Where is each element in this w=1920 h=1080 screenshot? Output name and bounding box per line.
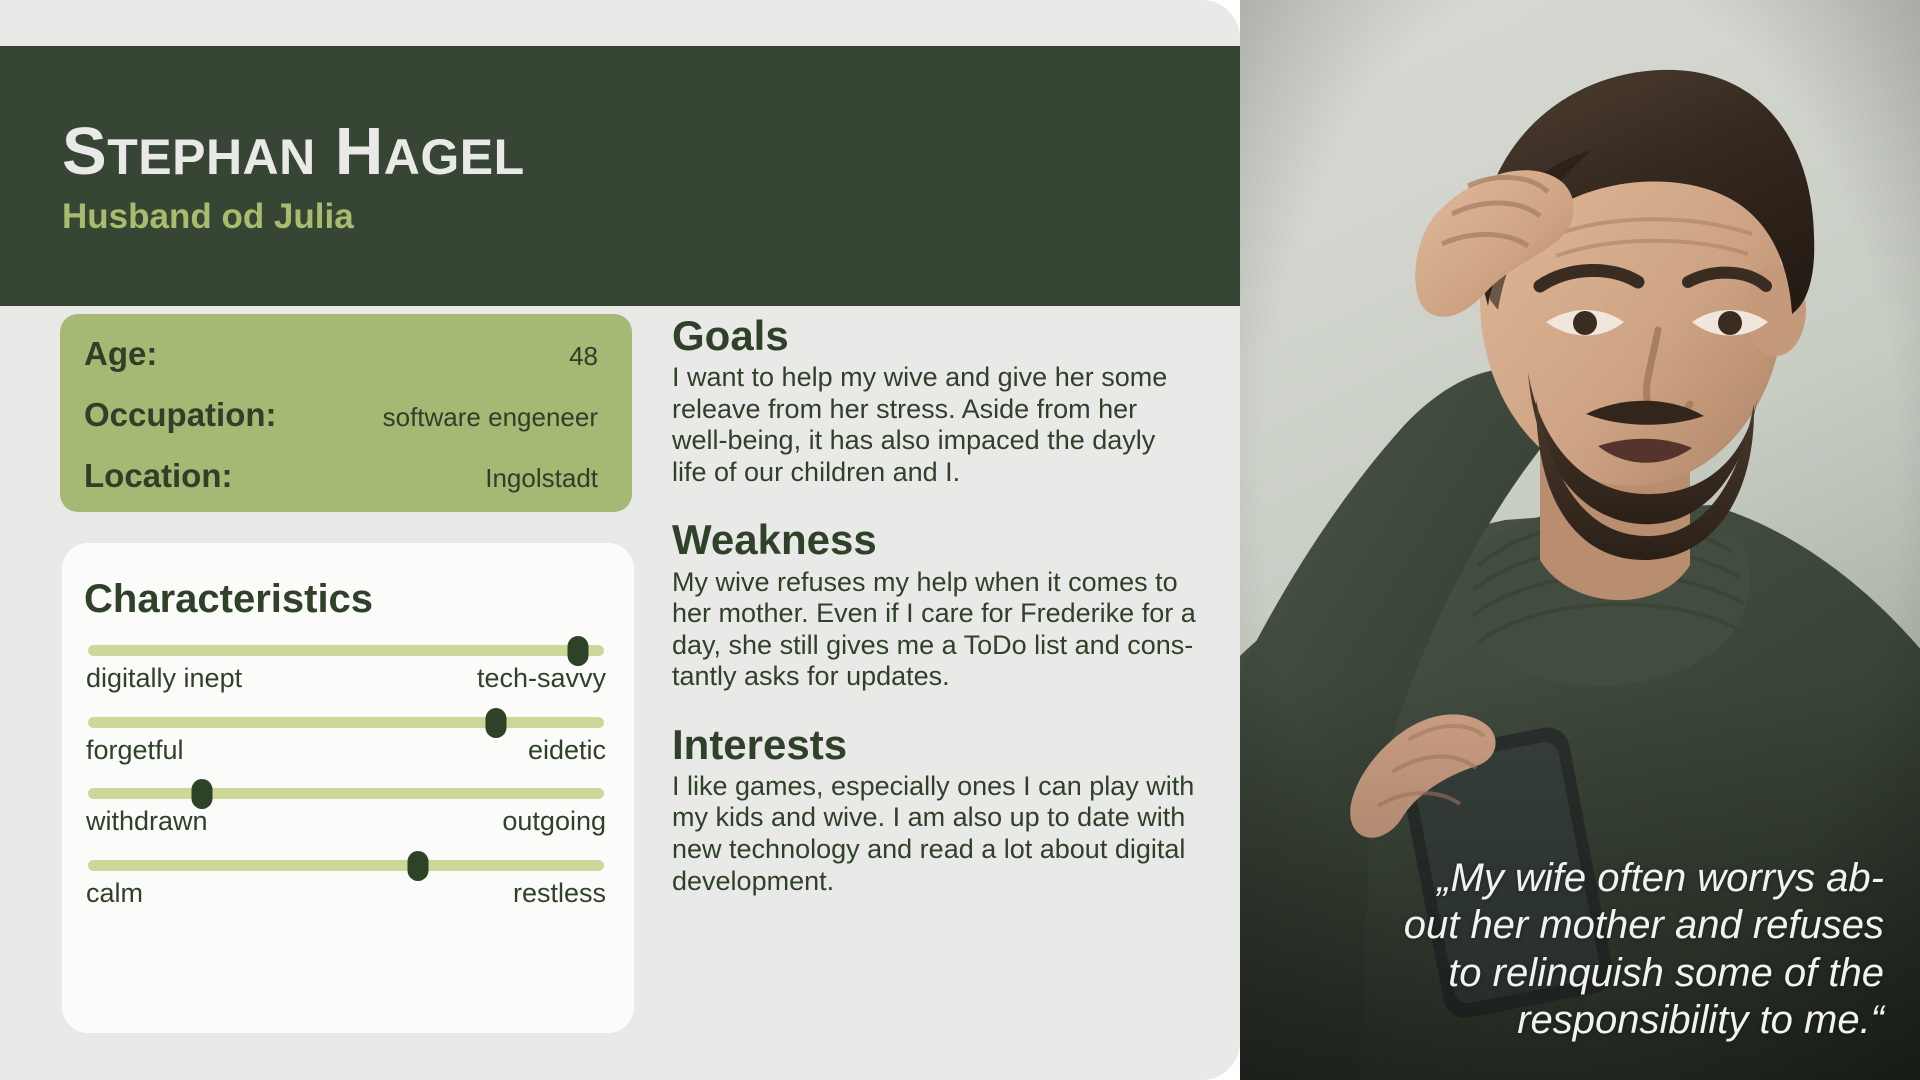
first-name-initial: S xyxy=(62,114,107,189)
slider-label-left: withdrawn xyxy=(86,807,208,837)
persona-text-column: Goals I want to help my wive and give he… xyxy=(672,314,1232,897)
info-label-occupation: Occupation: xyxy=(84,397,277,433)
slider-label-right: outgoing xyxy=(502,807,606,837)
slider-label-right: eidetic xyxy=(528,736,606,766)
info-label-location: Location: xyxy=(84,458,232,494)
slider-track[interactable] xyxy=(88,645,604,656)
section-title: Interests xyxy=(672,723,1232,767)
first-name-rest: TEPHAN xyxy=(107,129,316,185)
section-weakness: Weakness My wive refuses my help when it… xyxy=(672,518,1232,692)
section-title: Goals xyxy=(672,314,1232,358)
slider-label-left: forgetful xyxy=(86,736,184,766)
slider-label-right: restless xyxy=(513,879,606,909)
slider-label-left: digitally inept xyxy=(86,664,242,694)
info-row-age: Age: 48 xyxy=(84,336,598,372)
slider-track[interactable] xyxy=(88,717,604,728)
last-name-initial: H xyxy=(335,114,384,189)
characteristics-title: Characteristics xyxy=(84,579,608,619)
slider-handle[interactable] xyxy=(191,779,212,809)
section-body: I want to help my wive and give her some… xyxy=(672,362,1232,488)
persona-quote: „My wife often worrys ab- out her mother… xyxy=(1274,855,1884,1044)
section-goals: Goals I want to help my wive and give he… xyxy=(672,314,1232,488)
persona-header: STEPHAN HAGEL Husband od Julia xyxy=(0,46,1288,306)
info-value-location: Ingolstadt xyxy=(485,464,598,493)
slider-withdrawn-outgoing[interactable]: withdrawn outgoing xyxy=(84,788,608,837)
slider-calm-restless[interactable]: calm restless xyxy=(84,860,608,909)
slider-handle[interactable] xyxy=(485,708,506,738)
characteristics-card: Characteristics digitally inept tech-sav… xyxy=(62,543,634,1033)
page-title: STEPHAN HAGEL xyxy=(62,118,1288,185)
slider-track[interactable] xyxy=(88,788,604,799)
section-title: Weakness xyxy=(672,518,1232,562)
slider-digitally-inept-tech-savvy[interactable]: digitally inept tech-savvy xyxy=(84,645,608,694)
persona-photo-panel: „My wife often worrys ab- out her mother… xyxy=(1240,0,1920,1080)
info-row-location: Location: Ingolstadt xyxy=(84,458,598,494)
persona-card-page: STEPHAN HAGEL Husband od Julia Age: 48 O… xyxy=(0,0,1920,1080)
section-body: My wive refuses my help when it comes to… xyxy=(672,567,1232,693)
info-label-age: Age: xyxy=(84,336,157,372)
persona-role: Husband od Julia xyxy=(62,199,1288,234)
slider-label-right: tech-savvy xyxy=(477,664,606,694)
section-body: I like games, especially ones I can play… xyxy=(672,771,1232,897)
info-value-age: 48 xyxy=(569,342,598,371)
slider-track[interactable] xyxy=(88,860,604,871)
slider-handle[interactable] xyxy=(568,636,589,666)
slider-handle[interactable] xyxy=(408,851,429,881)
info-row-occupation: Occupation: software engeneer xyxy=(84,397,598,433)
section-interests: Interests I like games, especially ones … xyxy=(672,723,1232,897)
slider-forgetful-eidetic[interactable]: forgetful eidetic xyxy=(84,717,608,766)
info-value-occupation: software engeneer xyxy=(383,403,598,432)
last-name-rest: AGEL xyxy=(384,129,525,185)
persona-info-card: Age: 48 Occupation: software engeneer Lo… xyxy=(60,314,632,512)
slider-label-left: calm xyxy=(86,879,143,909)
